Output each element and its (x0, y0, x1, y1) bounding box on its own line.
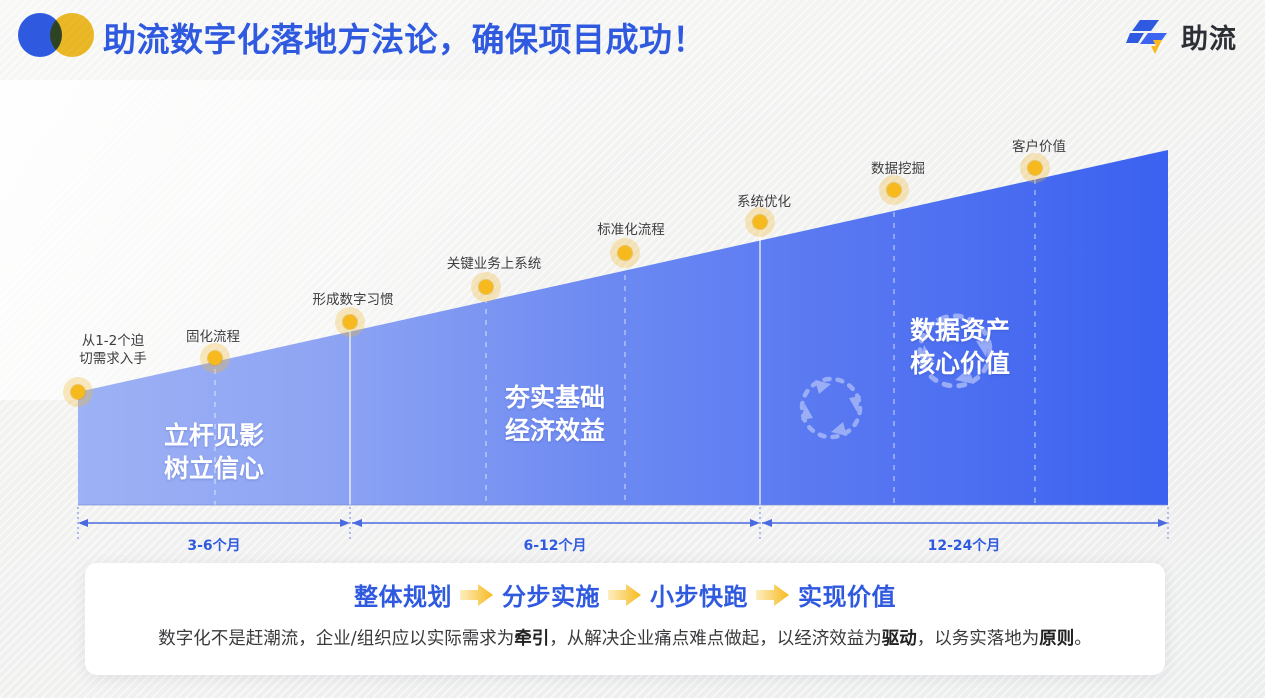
desc-bold-1: 牵引 (514, 629, 549, 649)
timeline-axis: 3-6个月 6-12个月 12-24个月 (0, 505, 1265, 565)
methodology-ramp-chart: 从1-2个迫切需求入手 固化流程 形成数字习惯 关键业务上系统 标准化流程 系统… (0, 110, 1265, 530)
milestone-label: 客户价值 (1012, 135, 1066, 155)
brand-name: 助流 (1181, 17, 1237, 56)
stage-title-2: 夯实基础 经济效益 (505, 382, 605, 447)
right-arrow-icon (460, 583, 494, 607)
desc-part-3: ，以务实落地为 (917, 629, 1040, 649)
milestone-dot[interactable] (1020, 153, 1050, 183)
milestone-dot[interactable] (610, 238, 640, 268)
stage-title-3: 数据资产 核心价值 (910, 315, 1010, 380)
dot-core (208, 351, 222, 365)
milestone-label: 关键业务上系统 (447, 252, 542, 272)
right-arrow-icon (608, 583, 642, 607)
milestone-label: 形成数字习惯 (313, 288, 394, 308)
dot-core (887, 183, 901, 197)
timeline-label-3: 12-24个月 (928, 535, 1001, 555)
step-label-2: 分步实施 (502, 577, 600, 612)
desc-part-1: 数字化不是赶潮流，企业/组织应以实际需求为 (158, 629, 514, 649)
step-label-3: 小步快跑 (650, 577, 748, 612)
logo-circle-yellow (50, 13, 94, 57)
brand-lockup: 助流 (1126, 16, 1237, 56)
summary-card: 整体规划 分步实施 小步快跑 实现价值 数字化不是赶潮流，企业/组织应以实际需求… (85, 563, 1165, 675)
two-overlapping-circles-logo (18, 13, 94, 57)
desc-part-4: 。 (1074, 629, 1092, 649)
milestone-dot[interactable] (471, 272, 501, 302)
milestone-dot[interactable] (745, 207, 775, 237)
milestone-label: 数据挖掘 (871, 157, 925, 177)
dot-core (618, 246, 632, 260)
page-title: 助流数字化落地方法论，确保项目成功！ (103, 13, 706, 61)
milestone-label: 标准化流程 (597, 218, 665, 238)
desc-bold-3: 原则 (1039, 629, 1074, 649)
stage-title-1: 立杆见影 树立信心 (164, 420, 264, 485)
steps-row: 整体规划 分步实施 小步快跑 实现价值 (85, 577, 1165, 612)
dot-core (343, 315, 357, 329)
summary-description: 数字化不是赶潮流，企业/组织应以实际需求为牵引，从解决企业痛点难点做起，以经济效… (85, 625, 1165, 653)
milestone-label: 从1-2个迫切需求入手 (79, 332, 147, 368)
step-label-4: 实现价值 (798, 577, 896, 612)
dot-core (479, 280, 493, 294)
timeline-label-2: 6-12个月 (523, 535, 586, 555)
zhuliu-lightning-logo (1126, 16, 1172, 56)
step-label-1: 整体规划 (354, 577, 452, 612)
timeline-label-1: 3-6个月 (187, 535, 240, 555)
milestone-label: 固化流程 (186, 325, 240, 345)
milestone-dot[interactable] (200, 343, 230, 373)
right-arrow-icon (756, 583, 790, 607)
milestone-label: 系统优化 (737, 190, 791, 210)
dot-core (753, 215, 767, 229)
milestone-dot[interactable] (63, 377, 93, 407)
milestone-dot[interactable] (879, 175, 909, 205)
dot-core (71, 385, 85, 399)
desc-part-2: ，从解决企业痛点难点做起，以经济效益为 (549, 629, 882, 649)
dot-core (1028, 161, 1042, 175)
milestone-dot[interactable] (335, 307, 365, 337)
page-header: 助流数字化落地方法论，确保项目成功！ 助流 (0, 0, 1265, 78)
desc-bold-2: 驱动 (882, 629, 917, 649)
